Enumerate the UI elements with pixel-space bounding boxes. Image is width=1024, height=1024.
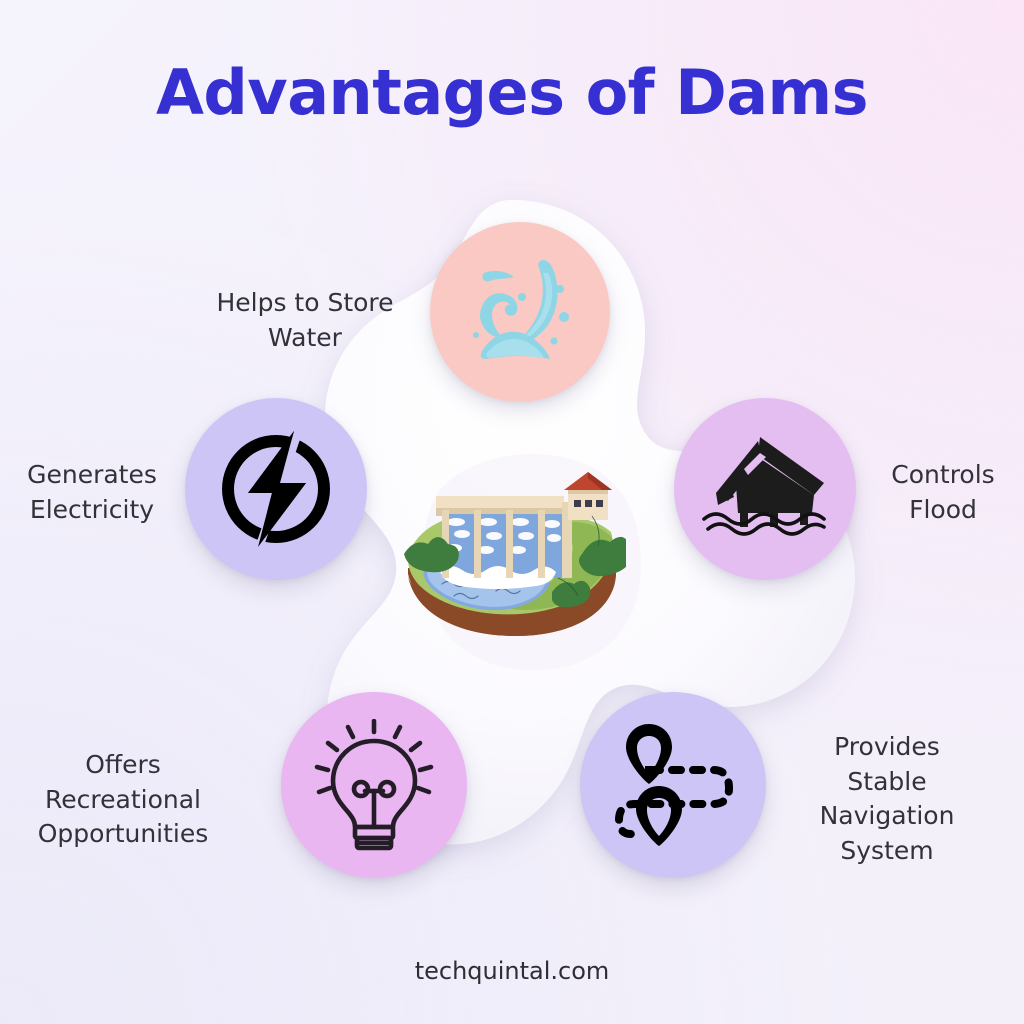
water-splash-icon (460, 255, 580, 370)
label-store-water: Helps to Store Water (180, 286, 430, 355)
lightning-bolt-circle-icon (214, 427, 338, 551)
footer-watermark: techquintal.com (0, 957, 1024, 985)
node-navigation-system[interactable] (580, 692, 766, 878)
route-navigation-icon (605, 722, 741, 848)
label-navigation-system: Provides Stable Navigation System (790, 730, 984, 868)
flooded-house-icon (700, 435, 830, 543)
label-controls-flood: Controls Flood (848, 458, 1024, 527)
node-recreational-opportunities[interactable] (281, 692, 467, 878)
node-generates-electricity[interactable] (185, 398, 367, 580)
dam-illustration (396, 458, 626, 638)
infographic-canvas: Advantages of Dams (0, 0, 1024, 1024)
page-title: Advantages of Dams (0, 56, 1024, 129)
node-controls-flood[interactable] (674, 398, 856, 580)
node-store-water[interactable] (430, 222, 610, 402)
label-recreational-opportunities: Offers Recreational Opportunities (14, 748, 232, 852)
lightbulb-icon (310, 719, 438, 851)
label-generates-electricity: Generates Electricity (0, 458, 192, 527)
